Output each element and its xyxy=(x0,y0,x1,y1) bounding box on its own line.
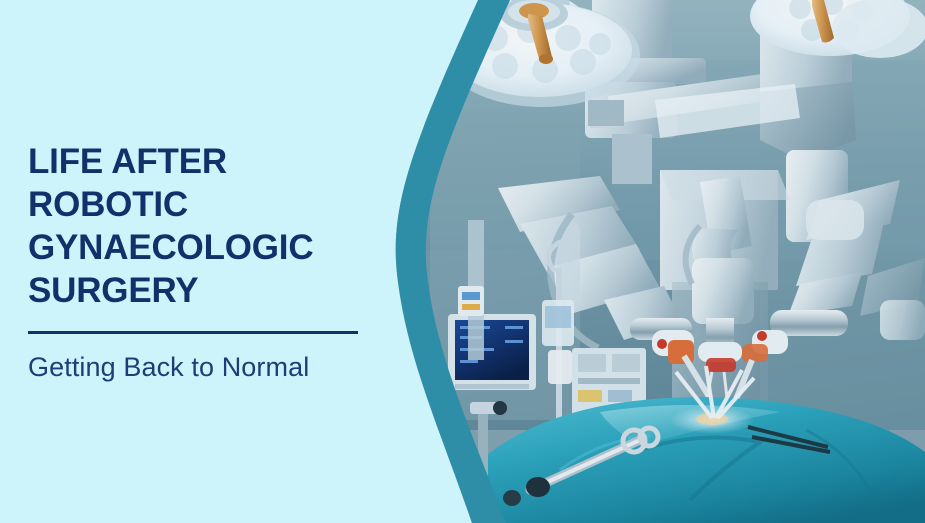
page-title: LIFE AFTER ROBOTIC GYNAECOLOGIC SURGERY xyxy=(28,140,368,312)
subtitle: Getting Back to Normal xyxy=(28,350,440,384)
banner-root: LIFE AFTER ROBOTIC GYNAECOLOGIC SURGERY … xyxy=(0,0,925,523)
headline-line-1: LIFE AFTER xyxy=(28,140,368,183)
headline-line-4: SURGERY xyxy=(28,269,368,312)
headline-line-2: ROBOTIC xyxy=(28,183,368,226)
headline-line-3: GYNAECOLOGIC xyxy=(28,226,368,269)
title-divider xyxy=(28,331,358,334)
headline-panel: LIFE AFTER ROBOTIC GYNAECOLOGIC SURGERY … xyxy=(0,0,440,523)
